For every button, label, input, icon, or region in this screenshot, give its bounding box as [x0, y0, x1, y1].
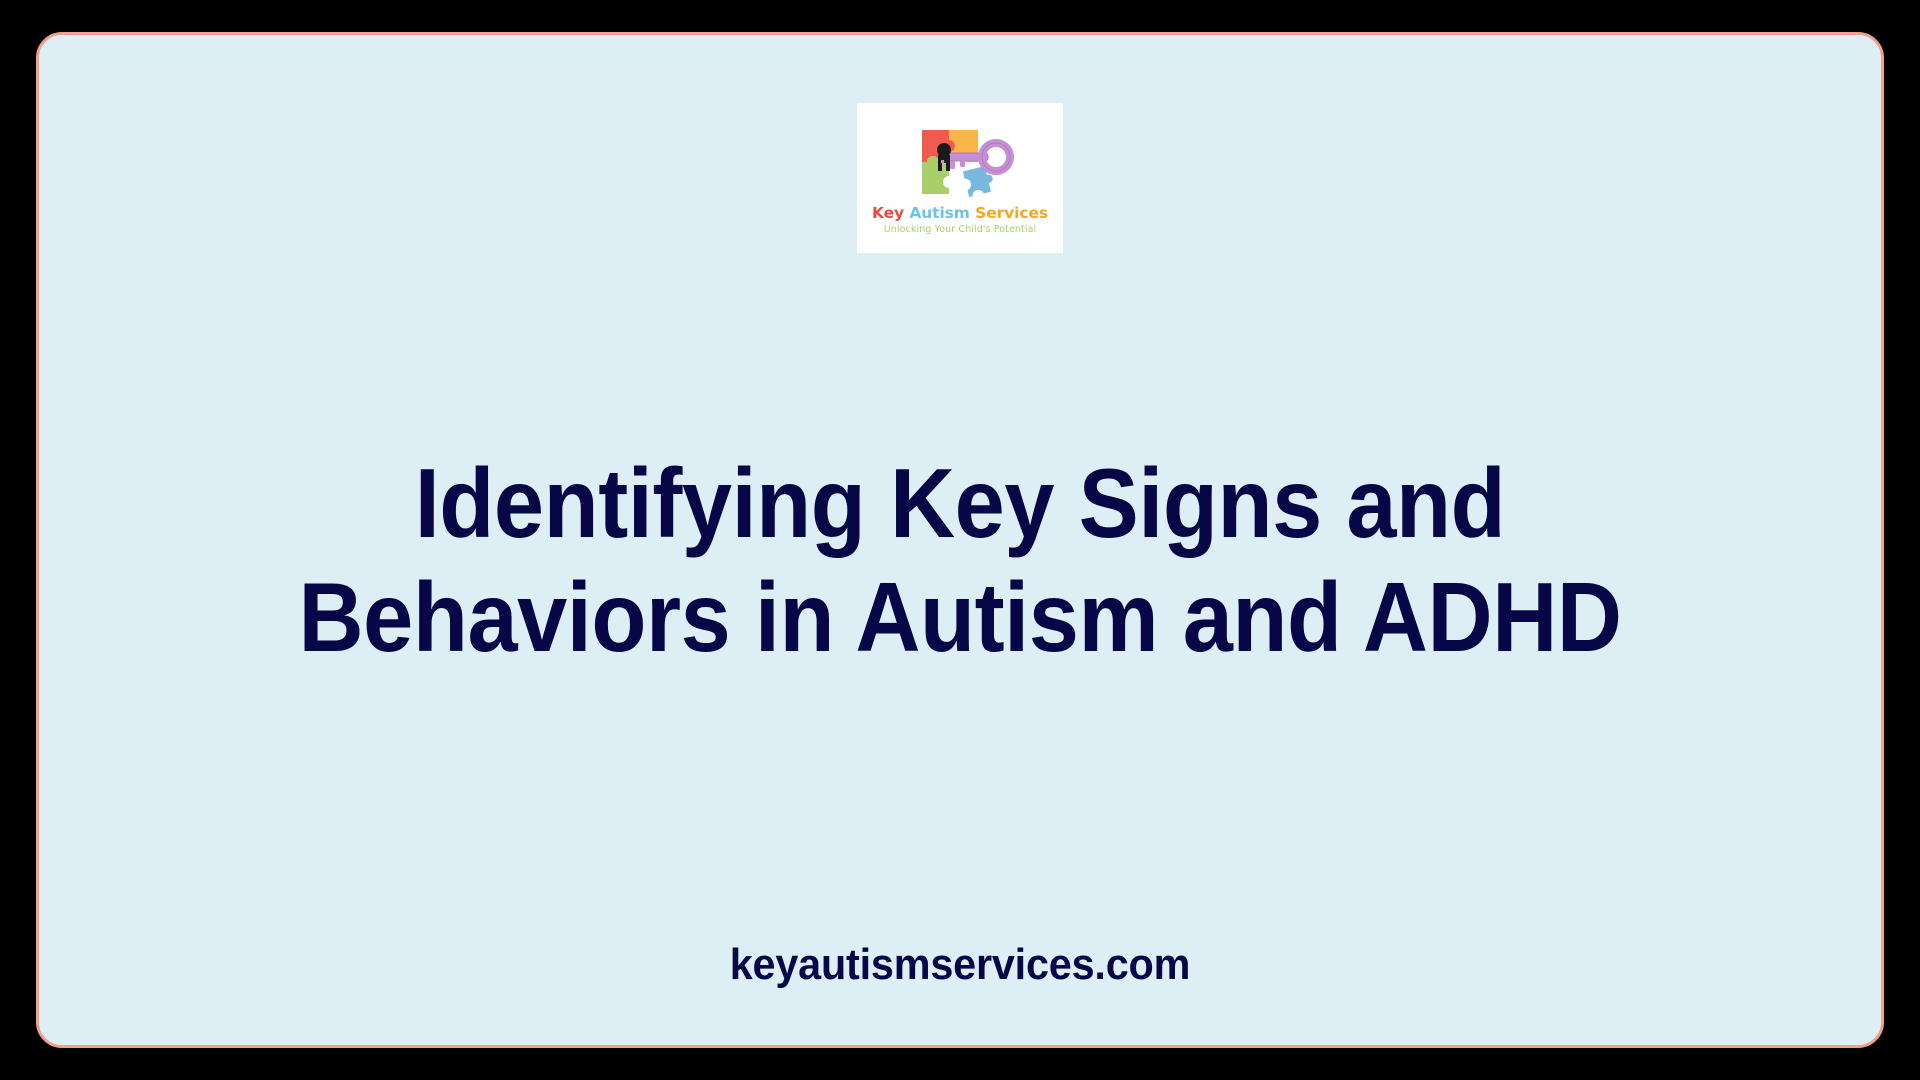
logo-word-autism: Autism [909, 204, 970, 222]
page-title-line-2: Behaviors in Autism and ADHD [242, 561, 1677, 675]
article-card: Key Autism Services Unlocking Your Child… [36, 32, 1884, 1048]
page-canvas: Key Autism Services Unlocking Your Child… [0, 0, 1920, 1080]
brand-logo[interactable]: Key Autism Services Unlocking Your Child… [857, 103, 1063, 253]
page-title-line-1: Identifying Key Signs and [242, 447, 1677, 561]
logo-wordmark: Key Autism Services [872, 206, 1048, 222]
logo-word-key: Key [872, 204, 904, 222]
site-url-text: keyautismservices.com [730, 943, 1191, 987]
logo-tagline: Unlocking Your Child's Potential [884, 225, 1037, 235]
page-title: Identifying Key Signs and Behaviors in A… [180, 447, 1740, 674]
puzzle-key-logo-icon [900, 124, 1020, 202]
site-url[interactable]: keyautismservices.com [39, 943, 1881, 987]
logo-word-services: Services [975, 204, 1048, 222]
